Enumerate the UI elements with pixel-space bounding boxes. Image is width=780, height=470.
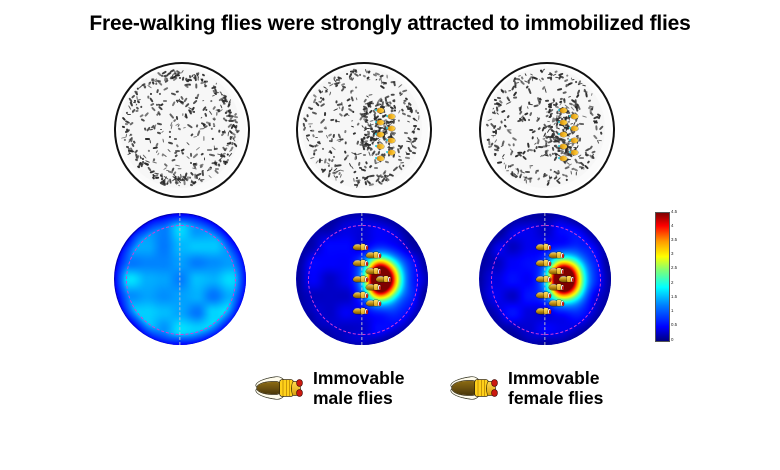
fly-track-mark [512,96,516,98]
fly-track-mark [342,113,348,118]
fly-track-mark [495,139,498,143]
immobilized-fly-marker [377,144,384,149]
fly-track-mark [498,104,502,108]
fly-track-mark [527,142,530,147]
fly-track-mark [497,161,502,163]
fly-track-mark [513,92,517,97]
fly-track-mark [337,133,340,138]
fly-track-mark [404,100,407,102]
fly-track-mark [365,161,368,165]
fly-track-mark [150,97,154,102]
fly-track-mark [183,126,186,128]
legend-female-label: Immovable female flies [508,368,603,408]
fly-track-mark [386,74,387,78]
immobilized-fly-icon [559,276,574,283]
fly-track-mark [204,83,206,87]
fly-track-mark [566,74,569,77]
fly-track-mark [398,119,400,121]
fly-track-mark [371,141,375,145]
fly-track-mark [358,161,361,166]
fly-track-mark [398,83,402,87]
fly-track-mark [133,140,136,143]
fly-track-mark [162,138,164,142]
fly-track-mark [175,154,178,157]
fly-track-mark [168,136,171,138]
immobilized-fly-marker [560,108,567,113]
fly-track-mark [213,148,217,150]
fly-track-mark [398,156,401,159]
fly-track-mark [320,119,325,124]
fly-track-mark [149,82,151,84]
fly-track-mark [372,73,376,76]
fly-track-mark [341,106,344,112]
fly-track-mark [353,178,355,182]
fly-track-mark [516,167,519,172]
fly-eye-left [297,380,302,386]
fly-track-mark [216,112,217,116]
fly-track-mark [346,72,348,74]
fly-track-mark [533,149,536,153]
fly-track-mark [144,112,149,117]
fly-track-mark [529,165,533,167]
fly-track-mark [192,181,196,185]
fly-track-mark [572,79,575,81]
fly-track-mark [541,70,544,73]
fly-track-mark [218,163,220,166]
fly-track-mark [384,95,389,99]
fly-track-mark [190,184,193,186]
fly-track-mark [563,91,567,93]
fly-track-mark [187,78,192,81]
colorbar-tick-labels: 4.543.532.521.510.50 [671,208,697,344]
fly-track-mark [236,130,240,134]
fly-track-mark [599,125,604,130]
colorbar-gradient [655,212,670,342]
fly-track-mark [344,130,346,133]
fly-track-mark [574,81,577,84]
fly-track-mark [392,146,395,149]
fly-track-mark [564,79,569,82]
fly-track-mark [407,115,411,118]
fly-track-mark [331,159,334,162]
fly-track-mark [127,153,131,156]
fly-track-mark [193,111,195,113]
fly-track-mark [142,157,144,159]
fly-track-mark [539,154,542,157]
fly-track-mark [353,132,356,135]
fly-track-mark [544,88,546,93]
fly-track-mark [179,181,182,183]
fly-track-mark [576,109,578,112]
fly-track-mark [344,150,347,153]
fly-track-mark [507,130,512,135]
legend-male: Immovable male flies [255,368,404,408]
fly-track-mark [582,115,587,118]
fly-track-mark [500,121,503,124]
fly-track-mark [336,175,339,177]
fly-track-mark [147,85,151,89]
fly-track-mark [313,153,315,156]
fly-track-mark [344,157,347,161]
fly-track-mark [385,161,389,164]
fly-track-mark [192,168,197,171]
fly-track-mark [143,84,147,89]
fly-track-mark [592,107,594,110]
fly-track-mark [600,132,602,135]
colorbar-tick: 2 [671,281,673,285]
fly-track-mark [214,169,219,174]
fly-track-mark [218,129,220,132]
fly-track-mark [369,94,373,96]
fly-track-mark [359,73,362,76]
fly-track-mark [341,88,345,92]
immobilized-fly-icon [536,260,551,267]
fly-track-mark [158,106,163,111]
fly-track-mark [404,132,408,134]
fly-track-mark [189,83,191,85]
fly-eye [366,278,368,282]
fly-track-mark [335,119,337,122]
fly-track-mark [495,129,497,134]
fly-female-icon [450,376,500,400]
fly-track-mark [397,144,400,147]
fly-track-mark [208,175,212,179]
fly-track-mark [201,152,204,155]
immobilized-fly-icon [536,308,551,315]
fly-track-mark [154,126,156,129]
fly-track-mark [333,156,336,158]
fly-track-mark [200,179,203,182]
immobilized-fly-icon [353,244,368,251]
colorbar-tick: 0 [671,338,673,342]
fly-track-mark [190,153,192,157]
fly-track-mark [412,145,417,149]
fly-eye [549,278,551,282]
fly-track-mark [592,153,594,155]
fly-track-mark [346,98,350,101]
fly-track-mark [528,118,531,121]
fly-track-mark [121,126,125,129]
immobilized-fly-icon [353,276,368,283]
fly-track-mark [147,166,152,171]
fly-track-mark [306,114,308,118]
fly-track-mark [368,183,373,186]
fly-track-mark [167,149,171,153]
colorbar-tick: 4 [671,224,673,228]
fly-track-mark [530,167,532,169]
fly-track-mark [355,87,358,90]
fly-track-mark [567,120,570,123]
fly-track-mark [182,152,185,155]
fly-track-mark [173,119,177,122]
fly-track-mark [310,125,311,127]
fly-track-mark [211,128,213,131]
fly-eye [366,262,368,266]
immobilized-fly-marker [560,120,567,125]
fly-track-mark [504,119,507,122]
immobilized-fly-icon [353,308,368,315]
fly-track-mark [322,169,326,173]
immobilized-fly-marker [560,144,567,149]
fly-track-mark [366,95,369,98]
immobilized-fly-marker [377,120,384,125]
fly-track-mark [153,158,155,161]
fly-track-mark [136,154,138,158]
fly-track-mark [576,94,580,98]
fly-track-mark [304,126,307,130]
fly-track-mark [529,112,532,116]
fly-track-mark [402,112,406,115]
fly-track-mark [531,136,534,140]
immobilized-fly-marker [377,108,384,113]
fly-track-mark [329,150,332,154]
fly-track-mark [336,104,341,107]
fly-track-mark [344,141,346,144]
fly-track-mark [178,127,181,130]
fly-track-mark [351,120,353,122]
fly-track-mark [306,137,310,142]
fly-track-mark [398,109,401,113]
fly-track-mark [508,90,511,92]
colorbar-tick: 1.5 [671,295,677,299]
fly-track-mark [155,177,159,179]
fly-track-mark [512,136,517,140]
fly-track-mark [521,76,524,79]
fly-track-mark [149,93,152,95]
fly-track-mark [555,105,560,108]
fly-track-mark [354,73,359,77]
immobilized-fly-marker [388,126,395,131]
fly-track-mark [366,108,368,112]
fly-track-mark [133,102,136,104]
fly-track-mark [228,103,231,107]
arena-control [114,62,250,198]
fly-track-mark [225,111,228,114]
fly-track-mark [220,159,222,162]
fly-track-mark [325,90,328,94]
fly-eye-left [492,380,497,386]
fly-track-mark [494,99,497,101]
immobilized-fly-marker [560,132,567,137]
fly-track-mark [319,159,321,163]
fly-track-mark [203,136,204,141]
fly-track-mark [339,180,343,184]
fly-track-mark [191,106,195,111]
fly-track-mark [175,164,180,166]
fly-track-mark [171,158,175,161]
fly-track-mark [172,101,176,107]
fly-track-mark [501,158,503,160]
fly-track-mark [523,151,527,155]
fly-track-mark [527,149,530,152]
fly-track-mark [549,169,552,172]
fly-track-mark [157,81,162,86]
immobilized-fly-icon [549,252,564,259]
fly-track-mark [317,131,322,133]
legend-male-label: Immovable male flies [313,368,404,408]
fly-track-mark [195,147,200,151]
arena-midline [179,213,180,345]
fly-track-mark [164,163,168,167]
fly-track-mark [356,177,358,179]
fly-track-mark [333,108,338,111]
fly-track-mark [543,174,548,178]
fly-track-mark [184,115,188,119]
fly-track-mark [130,122,134,125]
fly-track-mark [537,170,539,173]
fly-track-mark [352,110,355,113]
fly-track-mark [193,136,197,138]
fly-track-mark [156,122,161,125]
fly-track-mark [131,95,135,99]
fly-track-mark [538,100,541,104]
fly-track-mark [324,112,326,116]
fly-eye [549,262,551,266]
fly-track-mark [398,158,403,161]
fly-track-mark [209,153,215,156]
fly-track-mark [513,143,515,147]
colorbar-tick: 0.5 [671,323,677,327]
colorbar-tick: 3.5 [671,238,677,242]
fly-track-mark [538,139,541,144]
immobilized-fly-icon [353,260,368,267]
immobilized-fly-icon [366,268,381,275]
heatmap-male-target [296,213,428,345]
fly-track-mark [496,146,499,149]
immobilized-fly-marker [571,138,578,143]
fly-eye-right [297,390,302,396]
fly-track-mark [393,99,395,102]
fly-eye [389,278,391,282]
fly-track-mark [186,176,189,182]
fly-track-mark [228,152,232,157]
fly-track-mark [542,126,545,131]
fly-track-mark [159,92,161,94]
fly-track-mark [193,100,198,105]
immobilized-fly-icon [549,284,564,291]
colorbar-tick: 2.5 [671,266,677,270]
fly-track-mark [563,98,565,101]
fly-track-mark [525,171,531,173]
fly-track-mark [141,118,145,121]
fly-track-mark [176,91,179,93]
fly-track-mark [319,103,324,108]
fly-track-mark [508,143,511,146]
fly-track-mark [196,83,198,88]
arena-male-field [302,68,422,188]
fly-track-mark [545,100,549,102]
fly-eye [549,246,551,250]
fly-track-mark [352,68,355,73]
fly-eye [379,286,381,290]
immobilized-fly-icon [549,268,564,275]
immobilized-fly-marker [571,114,578,119]
fly-track-mark [363,154,367,156]
arena-female-target [479,62,615,198]
fly-track-mark [393,166,398,171]
fly-track-mark [507,129,512,130]
fly-track-mark [357,180,359,183]
immobilized-fly-marker [377,132,384,137]
fly-track-mark [215,82,217,85]
fly-track-mark [136,107,139,110]
fly-track-mark [556,88,561,91]
fly-track-mark [169,130,172,133]
fly-track-mark [152,161,157,164]
fly-track-mark [583,167,584,170]
fly-track-mark [178,168,182,169]
fly-track-mark [328,133,333,137]
fly-track-mark [187,124,193,128]
arena-female-field [485,68,605,188]
fly-track-mark [524,73,527,76]
fly-track-mark [353,170,357,173]
immobilized-fly-icon [536,292,551,299]
fly-track-mark [376,102,378,106]
fly-track-mark [208,110,212,114]
fly-track-mark [329,92,331,96]
fly-track-mark [355,155,357,159]
fly-abdomen [257,382,281,394]
fly-track-mark [580,137,582,142]
fly-track-mark [205,112,208,116]
colorbar-tick: 4.5 [671,210,677,214]
fly-track-mark [402,164,405,167]
fly-track-mark [588,99,591,102]
fly-track-mark [185,78,188,81]
fly-track-mark [332,171,335,173]
fly-track-mark [565,178,567,180]
fly-track-mark [412,151,417,154]
immobilized-fly-marker [377,156,384,161]
heatmap-female-target [479,213,611,345]
fly-track-mark [210,166,212,169]
fly-track-mark [166,72,170,76]
fly-track-mark [582,84,586,86]
fly-track-mark [522,156,527,161]
fly-track-mark [200,128,205,130]
fly-track-mark [487,118,492,121]
fly-track-mark [161,130,164,133]
fly-track-mark [339,174,342,178]
fly-track-mark [181,69,185,73]
fly-track-mark [338,106,340,109]
fly-track-mark [144,127,146,130]
fly-track-mark [506,170,509,171]
fly-track-mark [598,139,602,141]
fly-track-mark [170,124,172,129]
fly-track-mark [212,118,215,121]
fly-track-mark [527,106,529,109]
fly-track-mark [336,165,342,167]
fly-track-mark [533,143,536,146]
immobilized-fly-icon [366,300,381,307]
fly-track-mark [522,118,524,122]
fly-track-mark [351,96,354,101]
fly-track-mark [390,81,395,83]
fly-male-icon [255,376,305,400]
fly-track-mark [584,164,589,169]
fly-track-mark [127,114,131,115]
fly-track-mark [546,182,549,187]
fly-track-mark [196,124,198,127]
fly-track-mark [170,113,175,118]
fly-track-mark [205,108,208,111]
fly-track-mark [323,86,327,89]
fly-track-mark [518,117,521,120]
fly-track-mark [380,84,385,88]
fly-track-mark [211,95,214,97]
